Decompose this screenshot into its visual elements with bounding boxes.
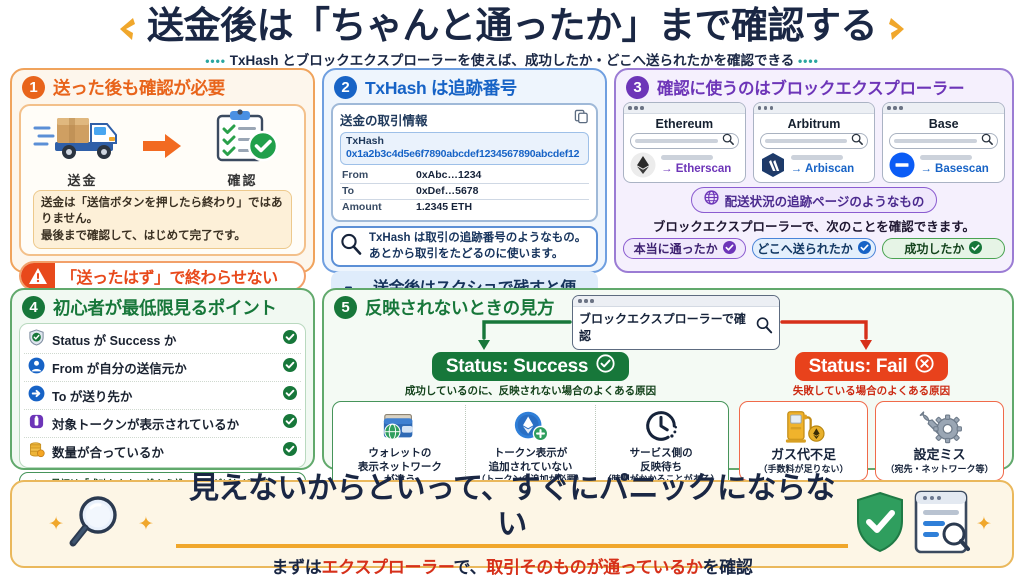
tx-row-key: Amount: [342, 201, 416, 213]
search-input[interactable]: [889, 133, 998, 149]
card2-hint: TxHash は取引の追跡番号のようなもの。 あとから取引をたどるのに使います。: [331, 226, 598, 268]
explorer-link-basescan[interactable]: → Basescan: [920, 163, 988, 175]
card5-success-subtitle: 成功しているのに、反映されない場合のよくある原因: [332, 383, 729, 398]
chain-name: Ethereum: [624, 114, 745, 133]
window-dot-icon: [634, 106, 638, 110]
search-input[interactable]: [760, 133, 869, 149]
card1-warning-strip: 「送ったはず」で終わらせない: [19, 261, 306, 291]
window-dot-icon: [640, 106, 644, 110]
user-circle-icon: [28, 357, 45, 379]
search-icon[interactable]: [755, 316, 773, 339]
card2-header: 2 TxHash は追跡番号: [324, 70, 605, 102]
list-item: 対象トークンが表示されているか: [24, 410, 301, 438]
explorer-windows: Ethereum → Etherscan: [616, 101, 1012, 183]
copy-icon[interactable]: [574, 109, 589, 129]
card1-number-badge: 1: [22, 76, 45, 99]
check-circle-icon: [283, 330, 297, 349]
delivery-truck-icon: [33, 151, 133, 168]
banner-headline: 見えないからといって、すぐにパニックにならない: [176, 471, 848, 548]
banner-subline-red2: 取引そのものが通っているか: [486, 558, 702, 577]
tx-row-value: 0xDef…5678: [416, 185, 478, 197]
tx-row-value: 1.2345 ETH: [416, 201, 472, 213]
window-dot-icon: [578, 299, 582, 303]
shield-check-icon: [854, 491, 906, 558]
window-dot-icon: [887, 106, 891, 110]
ethereum-logo-icon: [630, 152, 656, 178]
transaction-panel-title: 送金の取引情報: [340, 110, 428, 129]
list-item: To が送り先か: [24, 382, 301, 410]
card-step-1: 1 送った後も確認が必要: [10, 68, 315, 273]
window-dot-icon: [770, 106, 774, 110]
gas-pump-icon: [742, 405, 865, 447]
txhash-label: TxHash: [346, 135, 583, 148]
arbitrum-logo-icon: [760, 152, 786, 178]
reason-note: （宛先・ネットワーク等）: [878, 464, 1001, 476]
card2-number-badge: 2: [334, 76, 357, 99]
card3-lead-text: ブロックエクスプローラーで、次のことを確認できます。: [616, 216, 1012, 235]
subtitle-dots-right: ••••: [798, 54, 819, 68]
transaction-rows: From 0xAbc…1234 To 0xDef…5678 Amount 1.2…: [340, 168, 589, 215]
txhash-field[interactable]: TxHash 0x1a2b3c4d5e6f7890abcdef123456789…: [340, 132, 589, 165]
card3-analogy-text: 配送状況の追跡ページのようなもの: [725, 191, 925, 210]
table-row: To 0xDef…5678: [340, 184, 589, 200]
banner-subline-b: で、: [454, 558, 487, 577]
card1-flow: 送金: [27, 110, 298, 186]
window-dot-icon: [584, 299, 588, 303]
list-item: From が自分の送信元か: [24, 354, 301, 382]
card-step-3: 3 確認に使うのはブロックエクスプローラー Ethereum: [614, 68, 1014, 273]
chip-where-sent: どこへ送られたか: [752, 238, 875, 259]
placeholder-bar: [661, 155, 713, 160]
search-placeholder-bar: [635, 139, 718, 144]
document-search-icon: [912, 490, 970, 559]
checklist-clipboard-icon: [200, 151, 286, 168]
reason-line1: ウォレットの: [337, 447, 463, 461]
transaction-panel-header: 送金の取引情報: [340, 109, 589, 129]
card1-title: 送った後も確認が必要: [53, 75, 225, 100]
card3-title: 確認に使うのはブロックエクスプローラー: [657, 75, 964, 99]
search-icon: [981, 132, 993, 150]
card3-header: 3 確認に使うのはブロックエクスプローラー: [616, 70, 1012, 101]
chain-link-block: → Basescan: [920, 155, 988, 175]
reason-title: 設定ミス: [878, 447, 1001, 464]
card3-analogy-pill: 配送状況の追跡ページのようなもの: [691, 187, 938, 213]
x-circle-outline-icon: [915, 354, 934, 379]
tx-row-key: To: [342, 185, 416, 197]
list-item: Status が Success か: [24, 326, 301, 354]
search-placeholder-bar: [894, 139, 977, 144]
check-circle-icon: [969, 241, 982, 257]
card3-number-badge: 3: [626, 76, 649, 99]
banner-subline: まずはエクスプローラーで、取引そのものが通っているかを確認: [176, 553, 848, 578]
window-dot-icon: [628, 106, 632, 110]
card1-note-line1: 送金は「送信ボタンを押したら終わり」ではありません。: [41, 195, 284, 228]
search-placeholder-bar: [765, 139, 848, 144]
card1-note-line2: 最後まで確認して、はじめて完了です。: [41, 228, 284, 244]
transaction-panel: 送金の取引情報 TxHash 0x1a2b3c4d5e6f7890abcdef1…: [331, 103, 598, 222]
tx-row-key: From: [342, 169, 416, 181]
checklist-label: Status が Success か: [52, 330, 276, 349]
checklist-label: From が自分の送信元か: [52, 358, 276, 377]
token-add-icon: [468, 405, 594, 447]
status-fail-label: Status: Fail: [809, 356, 908, 378]
chain-footer: → Arbiscan: [754, 149, 875, 182]
page-subtitle-text: TxHash とブロックエクスプローラーを使えば、成功したか・どこへ送られたかを…: [230, 53, 794, 68]
card4-title: 初心者が最低限見るポイント: [53, 295, 277, 320]
check-circle-icon: [283, 386, 297, 405]
window-dot-icon: [893, 106, 897, 110]
banner-left-art: ✦ ✦: [26, 490, 176, 559]
wrench-gear-icon: [878, 405, 1001, 447]
card-step-2: 2 TxHash は追跡番号 送金の取引情報 TxHash 0x1a2b3c4d…: [322, 68, 607, 273]
banner-subline-red1: エクスプローラー: [321, 558, 453, 577]
status-success-label: Status: Success: [446, 356, 588, 378]
page-title-text: 送金後は「ちゃんと通ったか」まで確認する: [147, 5, 877, 46]
checklist-label: 対象トークンが表示されているか: [52, 414, 276, 433]
card1-flow-to: 確認: [191, 108, 295, 189]
card5-number-badge: 5: [334, 296, 357, 319]
sparkle-icon: ✦: [48, 513, 64, 536]
check-circle-outline-icon: [596, 354, 615, 379]
chip-label: どこへ送られたか: [757, 240, 853, 257]
shield-check-icon: [28, 329, 45, 351]
window-titlebar: [624, 103, 745, 114]
title-right-mark-icon: [887, 16, 907, 42]
chip-success: 成功したか: [882, 238, 1005, 259]
card-step-4: 4 初心者が最低限見るポイント Status が Success か From …: [10, 288, 315, 470]
chain-footer: → Basescan: [883, 149, 1004, 182]
chip-really-passed: 本当に通ったか: [623, 238, 746, 259]
reason-config-mistake: 設定ミス （宛先・ネットワーク等）: [875, 401, 1004, 481]
arrow-right-circle-icon: [28, 385, 45, 407]
chain-name: Base: [883, 114, 1004, 133]
status-badge-fail: Status: Fail: [795, 352, 949, 381]
card4-header: 4 初心者が最低限見るポイント: [12, 290, 313, 322]
window-titlebar: [754, 103, 875, 114]
globe-icon: [704, 190, 719, 210]
window-dot-icon: [899, 106, 903, 110]
base-logo-icon: [889, 152, 915, 178]
page-subtitle: •••• TxHash とブロックエクスプローラーを使えば、成功したか・どこへ送…: [0, 49, 1024, 69]
card2-title: TxHash は追跡番号: [365, 75, 517, 100]
banner-text: 見えないからといって、すぐにパニックにならない まずはエクスプローラーで、取引そ…: [176, 471, 848, 578]
arrow-right-icon: [143, 132, 183, 165]
placeholder-bar: [791, 155, 843, 160]
explorer-window-base[interactable]: Base → Basescan: [882, 102, 1005, 183]
check-circle-icon: [283, 442, 297, 461]
placeholder-bar: [920, 155, 972, 160]
search-icon: [722, 132, 734, 150]
check-circle-icon: [283, 414, 297, 433]
checklist: Status が Success か From が自分の送信元か To が送: [19, 323, 306, 468]
check-circle-icon: [723, 241, 736, 257]
card2-hint-text: TxHash は取引の追跡番号のようなもの。 あとから取引をたどるのに使います。: [369, 231, 586, 263]
page-title: 送金後は「ちゃんと通ったか」まで確認する: [0, 4, 1024, 48]
window-dot-icon: [590, 299, 594, 303]
infographic-page: 送金後は「ちゃんと通ったか」まで確認する •••• TxHash とブロックエク…: [0, 0, 1024, 576]
status-badge-success: Status: Success: [432, 352, 629, 381]
subtitle-dots-left: ••••: [205, 54, 226, 68]
explorer-link-arbiscan[interactable]: → Arbiscan: [791, 163, 854, 175]
card2-hint-line2: あとから取引をたどるのに使います。: [369, 247, 586, 263]
window-dot-icon: [758, 106, 762, 110]
table-row: From 0xAbc…1234: [340, 168, 589, 184]
card1-flow-from: 送金: [31, 108, 135, 189]
coins-icon: [28, 441, 45, 463]
card1-warning-text: 「送ったはず」で終わらせない: [61, 264, 278, 288]
wallet-globe-icon: [337, 405, 463, 447]
window-titlebar: [883, 103, 1004, 114]
table-row: Amount 1.2345 ETH: [340, 200, 589, 215]
banner-right-art: ✦: [848, 490, 998, 559]
check-circle-icon: [283, 358, 297, 377]
card1-illustration-panel: 送金: [19, 104, 306, 256]
footer-banner: ✦ ✦ 見えないからといって、すぐにパニックにならない まずはエクスプローラーで…: [10, 480, 1014, 568]
card1-to-label: 確認: [191, 170, 295, 189]
explorer-browser-text: ブロックエクスプローラーで確認: [579, 310, 749, 344]
explorer-browser-body: ブロックエクスプローラーで確認: [573, 307, 779, 349]
card1-header: 1 送った後も確認が必要: [12, 70, 313, 102]
card4-number-badge: 4: [22, 296, 45, 319]
sparkle-icon: ✦: [976, 513, 992, 536]
card3-chips: 本当に通ったか どこへ送られたか 成功したか: [616, 235, 1012, 259]
sparkle-icon: ✦: [138, 513, 154, 536]
explorer-window-ethereum[interactable]: Ethereum → Etherscan: [623, 102, 746, 183]
card5-title: 反映されないときの見方: [365, 295, 554, 320]
reason-gas-shortage: ガス代不足 （手数料が足りない）: [739, 401, 868, 481]
check-circle-icon: [858, 241, 871, 257]
search-icon: [851, 132, 863, 150]
txhash-value: 0x1a2b3c4d5e6f7890abcdef1234567890abcdef…: [346, 148, 583, 161]
chain-link-block: → Etherscan: [661, 155, 731, 175]
card2-hint-line1: TxHash は取引の追跡番号のようなもの。: [369, 231, 586, 247]
reason-line1: サービス側の: [598, 447, 724, 461]
card1-note: 送金は「送信ボタンを押したら終わり」ではありません。 最後まで確認して、はじめて…: [33, 190, 292, 249]
chain-link-block: → Arbiscan: [791, 155, 854, 175]
chain-footer: → Etherscan: [624, 149, 745, 182]
page-header: 送金後は「ちゃんと通ったか」まで確認する •••• TxHash とブロックエク…: [0, 0, 1024, 64]
clock-pending-icon: [598, 405, 724, 447]
reason-title: ガス代不足: [742, 447, 865, 464]
chain-name: Arbitrum: [754, 114, 875, 133]
magnifier-icon: [339, 232, 363, 261]
explorer-browser-window[interactable]: ブロックエクスプローラーで確認: [572, 295, 780, 350]
chip-label: 成功したか: [904, 240, 964, 257]
card1-from-label: 送金: [31, 170, 135, 189]
magnifier-sparkle-icon: [64, 490, 138, 559]
token-icon: [28, 413, 45, 435]
window-dot-icon: [764, 106, 768, 110]
warning-triangle-icon: [21, 263, 55, 289]
explorer-window-arbitrum[interactable]: Arbitrum → Arbiscan: [753, 102, 876, 183]
checklist-label: 数量が合っているか: [52, 442, 276, 461]
title-left-mark-icon: [117, 16, 137, 42]
tx-row-value: 0xAbc…1234: [416, 169, 481, 181]
search-input[interactable]: [630, 133, 739, 149]
explorer-link-etherscan[interactable]: → Etherscan: [661, 163, 731, 175]
fail-reasons: ガス代不足 （手数料が足りない）: [739, 401, 1004, 481]
reason-line1: トークン表示が: [468, 447, 594, 461]
banner-subline-c: を確認: [703, 558, 753, 577]
card5-fail-subtitle: 失敗している場合のよくある原因: [739, 383, 1004, 398]
card-step-5: 5 反映されないときの見方 ブロックエクスプローラーで確認: [322, 288, 1014, 470]
banner-subline-a: まずは: [271, 558, 321, 577]
chip-label: 本当に通ったか: [634, 240, 718, 257]
window-titlebar: [573, 296, 779, 307]
list-item: 数量が合っているか: [24, 438, 301, 465]
checklist-label: To が送り先か: [52, 386, 276, 405]
